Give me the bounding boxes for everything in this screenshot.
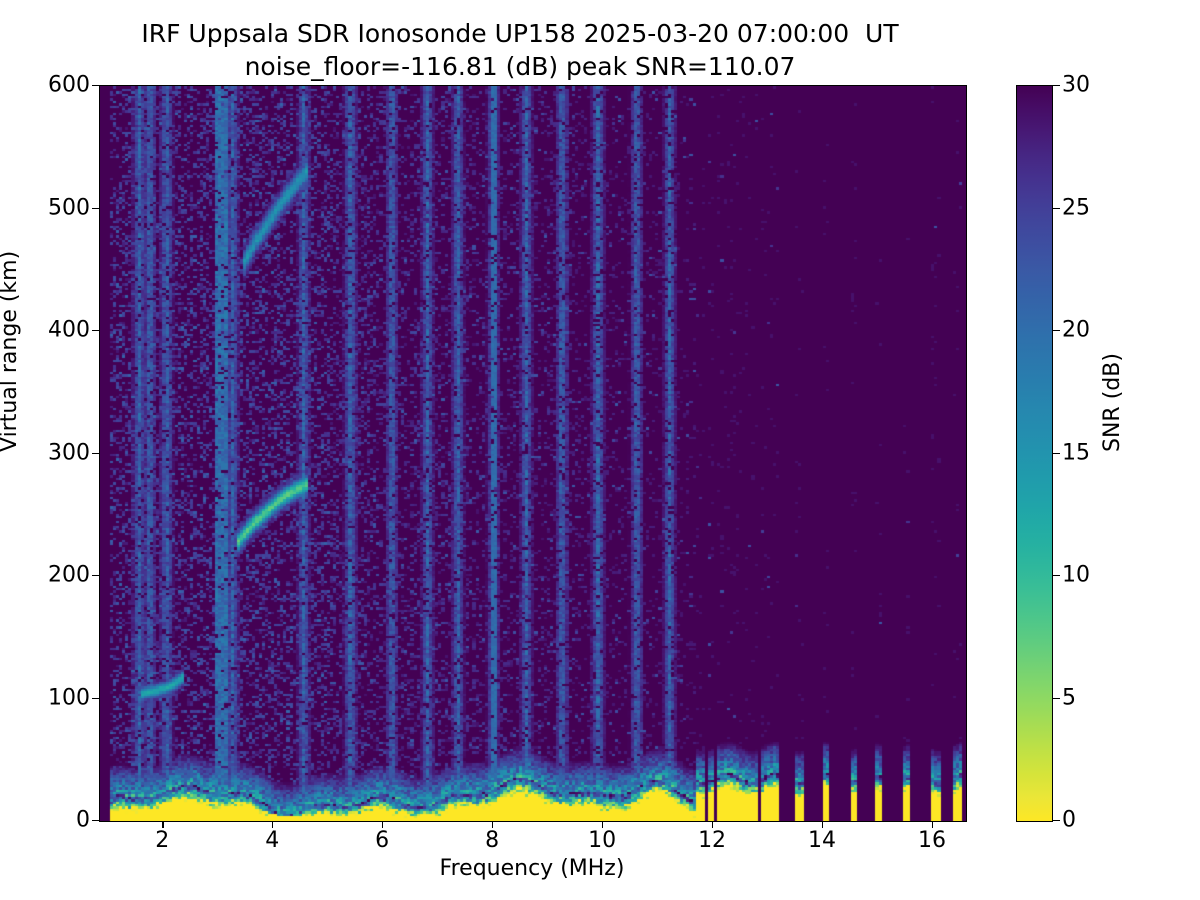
colorbar-tick-mark [1053, 820, 1060, 821]
colorbar-tick-label: 20 [1062, 318, 1090, 343]
title-line-2: noise_floor=-116.81 (dB) peak SNR=110.07 [0, 51, 1040, 84]
y-axis-tick-label: 300 [48, 440, 90, 465]
y-axis-tick-mark [92, 330, 99, 331]
y-axis-tick-label: 200 [48, 563, 90, 588]
y-axis-tick-mark [92, 453, 99, 454]
x-axis-label: Frequency (MHz) [99, 856, 965, 881]
colorbar [1016, 85, 1053, 822]
colorbar-gradient [1017, 86, 1052, 821]
x-axis-tick-mark [162, 821, 163, 828]
x-axis-tick-label: 2 [155, 828, 169, 853]
x-axis-tick-mark [822, 821, 823, 828]
x-axis-tick-mark [712, 821, 713, 828]
x-axis-tick-label: 4 [265, 828, 279, 853]
colorbar-tick-label: 30 [1062, 73, 1090, 98]
colorbar-tick-label: 5 [1062, 685, 1076, 710]
y-axis-tick-label: 100 [48, 685, 90, 710]
y-axis-tick-label: 0 [76, 808, 90, 833]
x-axis-tick-label: 14 [808, 828, 836, 853]
x-axis-tick-mark [602, 821, 603, 828]
colorbar-tick-label: 25 [1062, 195, 1090, 220]
figure-title: IRF Uppsala SDR Ionosonde UP158 2025-03-… [0, 18, 1040, 83]
y-axis-tick-label: 600 [48, 73, 90, 98]
x-axis-tick-label: 12 [698, 828, 726, 853]
y-axis-tick-label: 500 [48, 195, 90, 220]
colorbar-tick-mark [1053, 453, 1060, 454]
colorbar-tick-mark [1053, 85, 1060, 86]
y-axis-label: Virtual range (km) [0, 251, 22, 452]
colorbar-tick-label: 0 [1062, 808, 1076, 833]
colorbar-tick-label: 10 [1062, 563, 1090, 588]
y-axis-tick-mark [92, 208, 99, 209]
x-axis-tick-mark [492, 821, 493, 828]
x-axis-tick-mark [272, 821, 273, 828]
y-axis-tick-label: 400 [48, 318, 90, 343]
x-axis-tick-label: 16 [918, 828, 946, 853]
snr-heatmap [100, 86, 966, 821]
colorbar-tick-mark [1053, 575, 1060, 576]
y-axis-tick-mark [92, 698, 99, 699]
colorbar-tick-label: 15 [1062, 440, 1090, 465]
x-axis-tick-label: 8 [485, 828, 499, 853]
ionogram-plot-area [99, 85, 967, 822]
y-axis-tick-mark [92, 85, 99, 86]
title-line-1: IRF Uppsala SDR Ionosonde UP158 2025-03-… [0, 18, 1040, 51]
colorbar-label: SNR (dB) [1100, 353, 1125, 452]
colorbar-tick-mark [1053, 330, 1060, 331]
y-axis-tick-mark [92, 820, 99, 821]
colorbar-tick-mark [1053, 698, 1060, 699]
x-axis-tick-mark [932, 821, 933, 828]
x-axis-tick-label: 10 [588, 828, 616, 853]
ionogram-figure: IRF Uppsala SDR Ionosonde UP158 2025-03-… [0, 0, 1200, 900]
y-axis-tick-mark [92, 575, 99, 576]
x-axis-tick-label: 6 [375, 828, 389, 853]
x-axis-tick-mark [382, 821, 383, 828]
colorbar-tick-mark [1053, 208, 1060, 209]
